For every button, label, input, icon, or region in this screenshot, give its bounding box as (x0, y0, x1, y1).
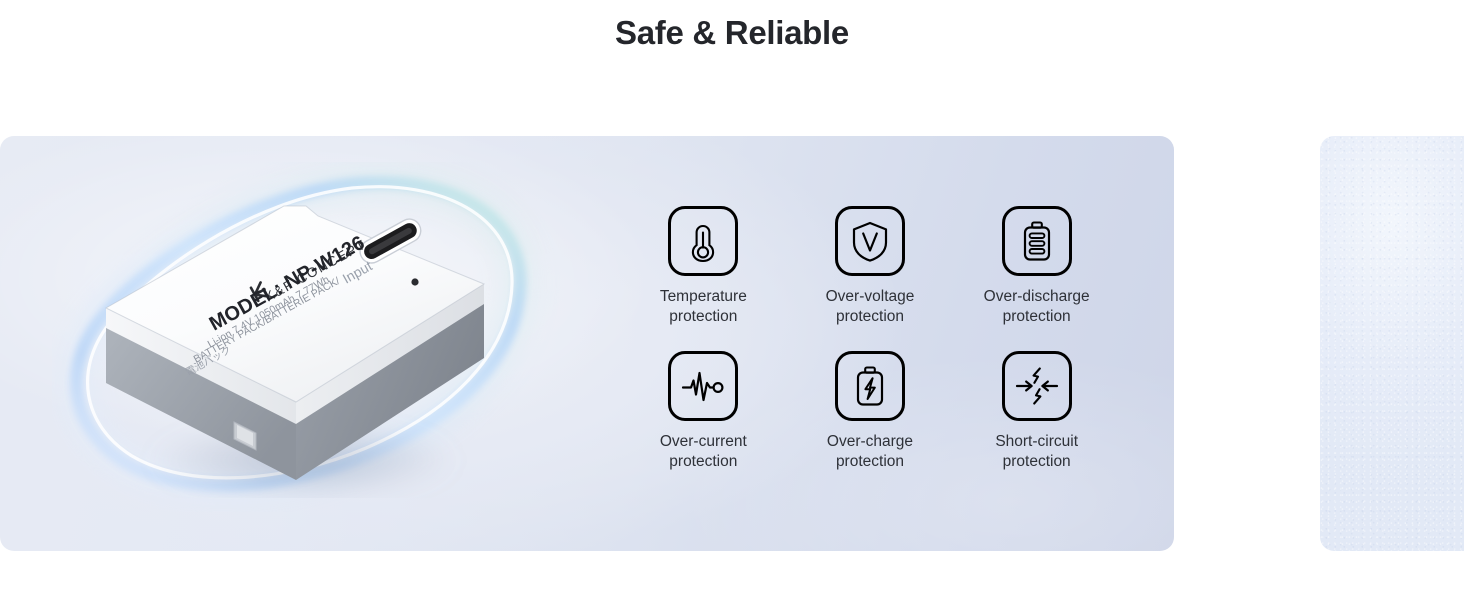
page-root: Safe & Reliable (0, 0, 1464, 600)
protection-item-over-voltage[interactable]: Over-voltage protection (787, 206, 954, 327)
protection-item-over-current[interactable]: Over-current protection (620, 351, 787, 472)
protection-label: Over-voltage protection (826, 287, 915, 327)
product-image: Input K&F CONCEPT MODEL: NP-W126 Li-ion … (0, 136, 620, 551)
protection-item-over-charge[interactable]: Over-charge protection (787, 351, 954, 472)
icon-box-short-circuit (1002, 351, 1072, 421)
led-indicator-dot (411, 278, 418, 285)
icon-box-over-voltage (835, 206, 905, 276)
protection-label: Over-discharge protection (984, 287, 1090, 327)
battery-bars-icon (1015, 219, 1059, 263)
protection-grid: Temperature protection Over-voltage prot… (620, 206, 1120, 472)
protection-label: Over-charge protection (827, 432, 913, 472)
protection-label: Over-current protection (660, 432, 747, 472)
icon-box-over-discharge (1002, 206, 1072, 276)
shield-voltage-icon (848, 219, 892, 263)
protection-item-over-discharge[interactable]: Over-discharge protection (953, 206, 1120, 327)
thermometer-icon (681, 219, 725, 263)
battery-product-icon: Input K&F CONCEPT MODEL: NP-W126 Li-ion … (88, 198, 518, 498)
side-panel (1320, 136, 1464, 551)
protection-item-short-circuit[interactable]: Short-circuit protection (953, 351, 1120, 472)
icon-box-temperature (668, 206, 738, 276)
side-panel-texture (1320, 136, 1464, 551)
icon-box-over-charge (835, 351, 905, 421)
protection-label: Short-circuit protection (995, 432, 1078, 472)
feature-panel: Input K&F CONCEPT MODEL: NP-W126 Li-ion … (0, 136, 1174, 551)
page-title: Safe & Reliable (0, 14, 1464, 52)
protection-item-temperature[interactable]: Temperature protection (620, 206, 787, 327)
icon-box-over-current (668, 351, 738, 421)
short-circuit-icon (1014, 364, 1060, 408)
battery-bolt-icon (848, 364, 892, 408)
waveform-pulse-icon (680, 364, 726, 408)
protection-label: Temperature protection (660, 287, 747, 327)
